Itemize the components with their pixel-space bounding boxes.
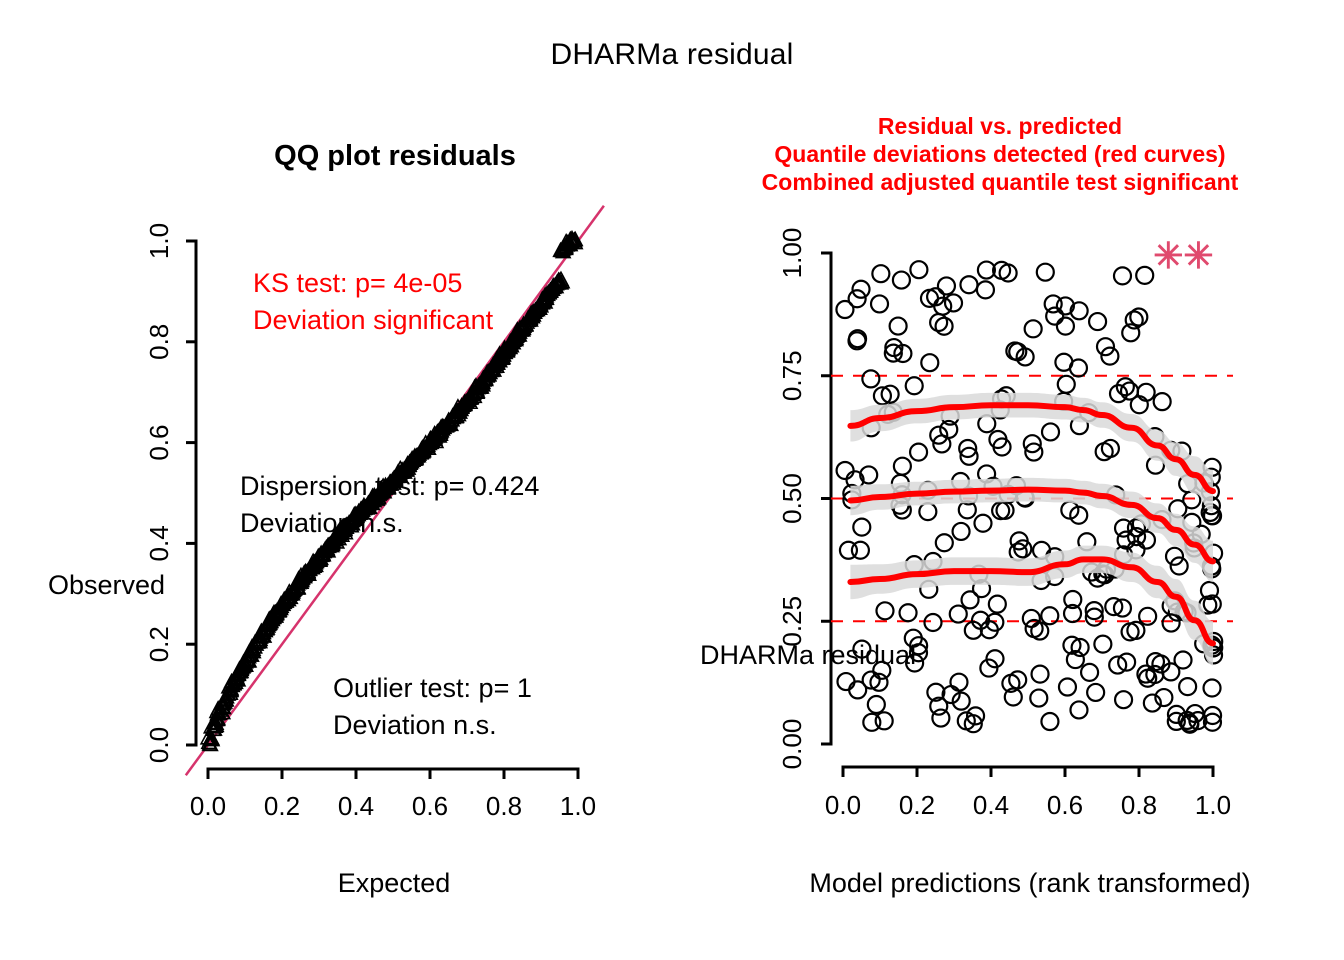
residual-point <box>1037 264 1054 281</box>
residual-point <box>950 606 967 623</box>
residual-x-tick-label: 1.0 <box>1195 790 1231 820</box>
residual-point <box>876 712 893 729</box>
residual-point <box>936 534 953 551</box>
residual-y-tick-label: 0.25 <box>777 596 807 647</box>
residual-point <box>890 318 907 335</box>
residual-point <box>936 318 953 335</box>
residual-point <box>1204 679 1221 696</box>
residual-point <box>924 614 941 631</box>
residual-point <box>1030 690 1047 707</box>
figure-canvas: DHARMa residual QQ plot residuals 0.00.2… <box>0 0 1344 960</box>
residual-point <box>919 503 936 520</box>
residual-point <box>837 462 854 479</box>
residual-point <box>1110 385 1127 402</box>
residual-point <box>921 354 938 371</box>
residual-point <box>1025 320 1042 337</box>
residual-point <box>938 277 955 294</box>
residual-point <box>871 295 888 312</box>
residual-point <box>1000 264 1017 281</box>
residual-point <box>1114 267 1131 284</box>
residual-point <box>1115 691 1132 708</box>
residual-y-tick-label: 0.75 <box>777 350 807 401</box>
residual-point <box>1042 423 1059 440</box>
residual-point <box>953 523 970 540</box>
residual-point <box>960 276 977 293</box>
residual-x-axis-label: Model predictions (rank transformed) <box>780 868 1280 899</box>
residual-x-tick-label: 0.4 <box>973 790 1009 820</box>
residual-point <box>910 444 927 461</box>
residual-y-tick-label: 0.50 <box>777 473 807 524</box>
residual-point <box>872 265 889 282</box>
residual-x-tick-label: 0.0 <box>825 790 861 820</box>
residual-x-tick-label: 0.8 <box>1121 790 1157 820</box>
residual-point <box>1130 308 1147 325</box>
residual-point <box>930 314 947 331</box>
residual-point <box>1139 608 1156 625</box>
residual-point <box>1166 548 1183 565</box>
residual-point <box>1070 701 1087 718</box>
residual-point <box>1154 393 1171 410</box>
residual-point <box>1023 610 1040 627</box>
residual-point <box>1117 378 1134 395</box>
residual-point <box>862 370 879 387</box>
residual-point <box>974 515 991 532</box>
residual-point <box>868 696 885 713</box>
residual-point <box>1171 558 1188 575</box>
residual-x-tick-label: 0.6 <box>1047 790 1083 820</box>
residual-y-axis-label: DHARMa residual <box>700 640 916 671</box>
residual-point <box>1175 652 1192 669</box>
residual-point <box>945 294 962 311</box>
residual-point <box>1070 359 1087 376</box>
residual-plot-area: 0.000.250.500.751.000.00.20.40.60.81.0✳✳ <box>0 0 1344 960</box>
significance-asterisks: ✳✳ <box>1153 235 1213 276</box>
residual-point <box>837 673 854 690</box>
residual-x-axis <box>843 767 1213 777</box>
residual-point <box>849 290 866 307</box>
residual-point <box>852 542 869 559</box>
residual-point <box>1102 440 1119 457</box>
residual-point <box>893 272 910 289</box>
residual-point <box>1094 636 1111 653</box>
residual-point <box>1058 376 1075 393</box>
residual-point <box>1179 678 1196 695</box>
residual-point <box>894 458 911 475</box>
residual-point <box>1136 267 1153 284</box>
residual-y-tick-label: 1.00 <box>777 228 807 279</box>
residual-point <box>853 281 870 298</box>
residual-point <box>1089 313 1106 330</box>
residual-point <box>1032 666 1049 683</box>
residual-point <box>1041 607 1058 624</box>
residual-point <box>853 519 870 536</box>
residual-point <box>876 602 893 619</box>
residual-point <box>977 281 994 298</box>
residual-point <box>950 674 967 691</box>
residual-point <box>1081 664 1098 681</box>
residual-point <box>900 604 917 621</box>
residual-point <box>1087 684 1104 701</box>
residual-point <box>906 377 923 394</box>
residual-point <box>1031 623 1048 640</box>
residual-x-tick-label: 0.2 <box>899 790 935 820</box>
residual-point <box>1059 679 1076 696</box>
residual-point <box>1041 713 1058 730</box>
residual-y-tick-label: 0.00 <box>777 719 807 770</box>
residual-point <box>978 415 995 432</box>
residual-point <box>1138 532 1155 549</box>
residual-point <box>989 596 1006 613</box>
residual-point <box>932 710 949 727</box>
residual-point <box>1057 318 1074 335</box>
residual-point <box>910 261 927 278</box>
